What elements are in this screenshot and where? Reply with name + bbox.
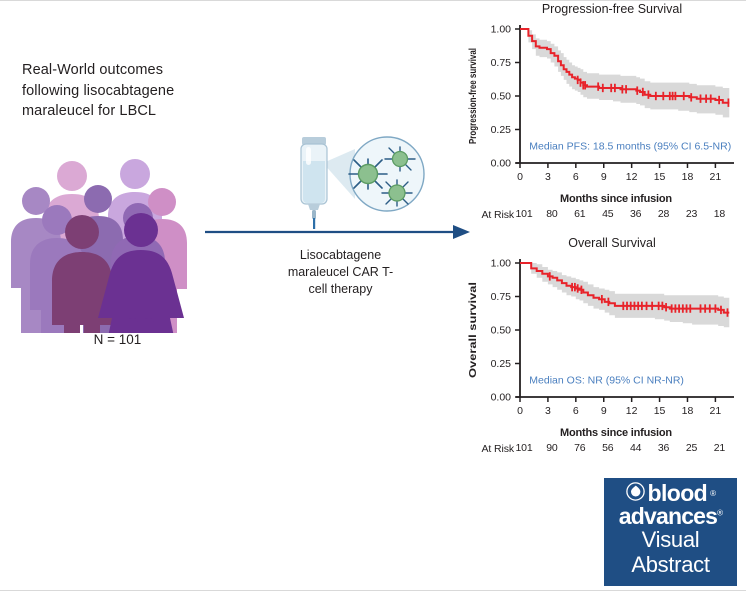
therapy-label-line-1: Lisocabtagene — [283, 247, 398, 264]
chart-title-os: Overall Survival — [462, 236, 740, 250]
logo-blood-text: blood — [648, 482, 708, 505]
cells-magnifier-icon — [349, 137, 424, 211]
at-risk-value: 101 — [516, 442, 533, 454]
blood-advances-visual-abstract-logo: blood® advances® Visual Abstract — [604, 478, 737, 586]
at-risk-values-os: 10190765644362521 — [518, 442, 740, 456]
frame-top-rule — [0, 0, 746, 1]
svg-text:0.00: 0.00 — [491, 392, 512, 404]
at-risk-label-pfs: At Risk — [462, 209, 518, 221]
at-risk-value: 61 — [574, 208, 585, 220]
at-risk-value: 90 — [546, 442, 557, 454]
svg-text:6: 6 — [573, 405, 579, 417]
svg-text:3: 3 — [545, 171, 551, 183]
svg-text:0.75: 0.75 — [491, 291, 512, 303]
plot-area-os: 0.000.250.500.751.00036912151821Overall … — [462, 251, 740, 429]
cohort-size-label: N = 101 — [10, 332, 225, 347]
svg-text:15: 15 — [654, 405, 666, 417]
svg-text:3: 3 — [545, 405, 551, 417]
logo-advances-registered: ® — [717, 509, 722, 518]
svg-text:0.50: 0.50 — [491, 91, 512, 103]
svg-text:21: 21 — [710, 171, 722, 183]
svg-text:0.25: 0.25 — [491, 358, 512, 370]
logo-blood-line: blood® — [604, 482, 737, 505]
logo-visual-text: Visual — [604, 528, 737, 553]
svg-text:21: 21 — [710, 405, 722, 417]
iv-bag-icon — [301, 137, 327, 229]
at-risk-value: 21 — [714, 442, 725, 454]
visual-abstract-page: Real-World outcomes following lisocabtag… — [0, 0, 746, 591]
chart-overall-survival: Overall Survival 0.000.250.500.751.00036… — [462, 236, 740, 468]
logo-advances-text: advances — [619, 503, 717, 529]
at-risk-value: 36 — [630, 208, 641, 220]
at-risk-value: 44 — [630, 442, 641, 454]
headline-line-3: maraleucel for LBCL — [22, 101, 237, 122]
therapy-label: Lisocabtagene maraleucel CAR T- cell the… — [283, 247, 398, 298]
svg-text:9: 9 — [601, 171, 607, 183]
chart-progression-free-survival: Progression-free Survival 0.000.250.500.… — [462, 2, 740, 234]
logo-advances-line: advances® — [604, 505, 737, 528]
at-risk-value: 80 — [546, 208, 557, 220]
svg-text:6: 6 — [573, 171, 579, 183]
at-risk-value: 56 — [602, 442, 613, 454]
svg-text:Progression-free survival: Progression-free survival — [467, 48, 479, 144]
therapy-label-line-3: cell therapy — [283, 281, 398, 298]
svg-text:12: 12 — [626, 405, 638, 417]
headline-line-1: Real-World outcomes — [22, 60, 237, 81]
svg-text:18: 18 — [682, 171, 694, 183]
at-risk-value: 76 — [574, 442, 585, 454]
logo-blood-registered: ® — [710, 490, 715, 498]
headline-line-2: following lisocabtagene — [22, 81, 237, 102]
at-risk-value: 25 — [686, 442, 697, 454]
at-risk-value: 23 — [686, 208, 697, 220]
at-risk-value: 101 — [516, 208, 533, 220]
people-group-icon — [10, 158, 225, 333]
at-risk-values-pfs: 10180614536282318 — [518, 208, 740, 222]
at-risk-label-os: At Risk — [462, 443, 518, 455]
ash-blood-drop-icon — [626, 482, 645, 505]
svg-text:0.00: 0.00 — [491, 158, 512, 170]
svg-text:9: 9 — [601, 405, 607, 417]
svg-text:1.00: 1.00 — [491, 258, 512, 270]
svg-text:15: 15 — [654, 171, 666, 183]
page-title: Real-World outcomes following lisocabtag… — [22, 60, 237, 122]
at-risk-value: 18 — [714, 208, 725, 220]
svg-text:Median PFS: 18.5 months (95% C: Median PFS: 18.5 months (95% CI 6.5-NR) — [529, 141, 731, 153]
chart-title-pfs: Progression-free Survival — [462, 2, 740, 16]
svg-text:Overall survival: Overall survival — [467, 282, 479, 378]
svg-text:18: 18 — [682, 405, 694, 417]
logo-abstract-text: Abstract — [604, 553, 737, 578]
at-risk-value: 36 — [658, 442, 669, 454]
therapy-label-line-2: maraleucel CAR T- — [283, 264, 398, 281]
at-risk-value: 28 — [658, 208, 669, 220]
at-risk-row-pfs: At Risk 10180614536282318 — [462, 208, 740, 222]
svg-text:0.75: 0.75 — [491, 57, 512, 69]
svg-text:Median OS: NR (95% CI NR-NR): Median OS: NR (95% CI NR-NR) — [529, 375, 684, 387]
svg-text:0.50: 0.50 — [491, 325, 512, 337]
at-risk-row-os: At Risk 10190765644362521 — [462, 442, 740, 456]
car-t-therapy-icon — [293, 133, 428, 233]
svg-text:12: 12 — [626, 171, 638, 183]
svg-text:1.00: 1.00 — [491, 24, 512, 36]
plot-area-pfs: 0.000.250.500.751.00036912151821Progress… — [462, 17, 740, 195]
svg-text:0.25: 0.25 — [491, 124, 512, 136]
svg-text:0: 0 — [517, 405, 523, 417]
at-risk-value: 45 — [602, 208, 613, 220]
svg-text:0: 0 — [517, 171, 523, 183]
